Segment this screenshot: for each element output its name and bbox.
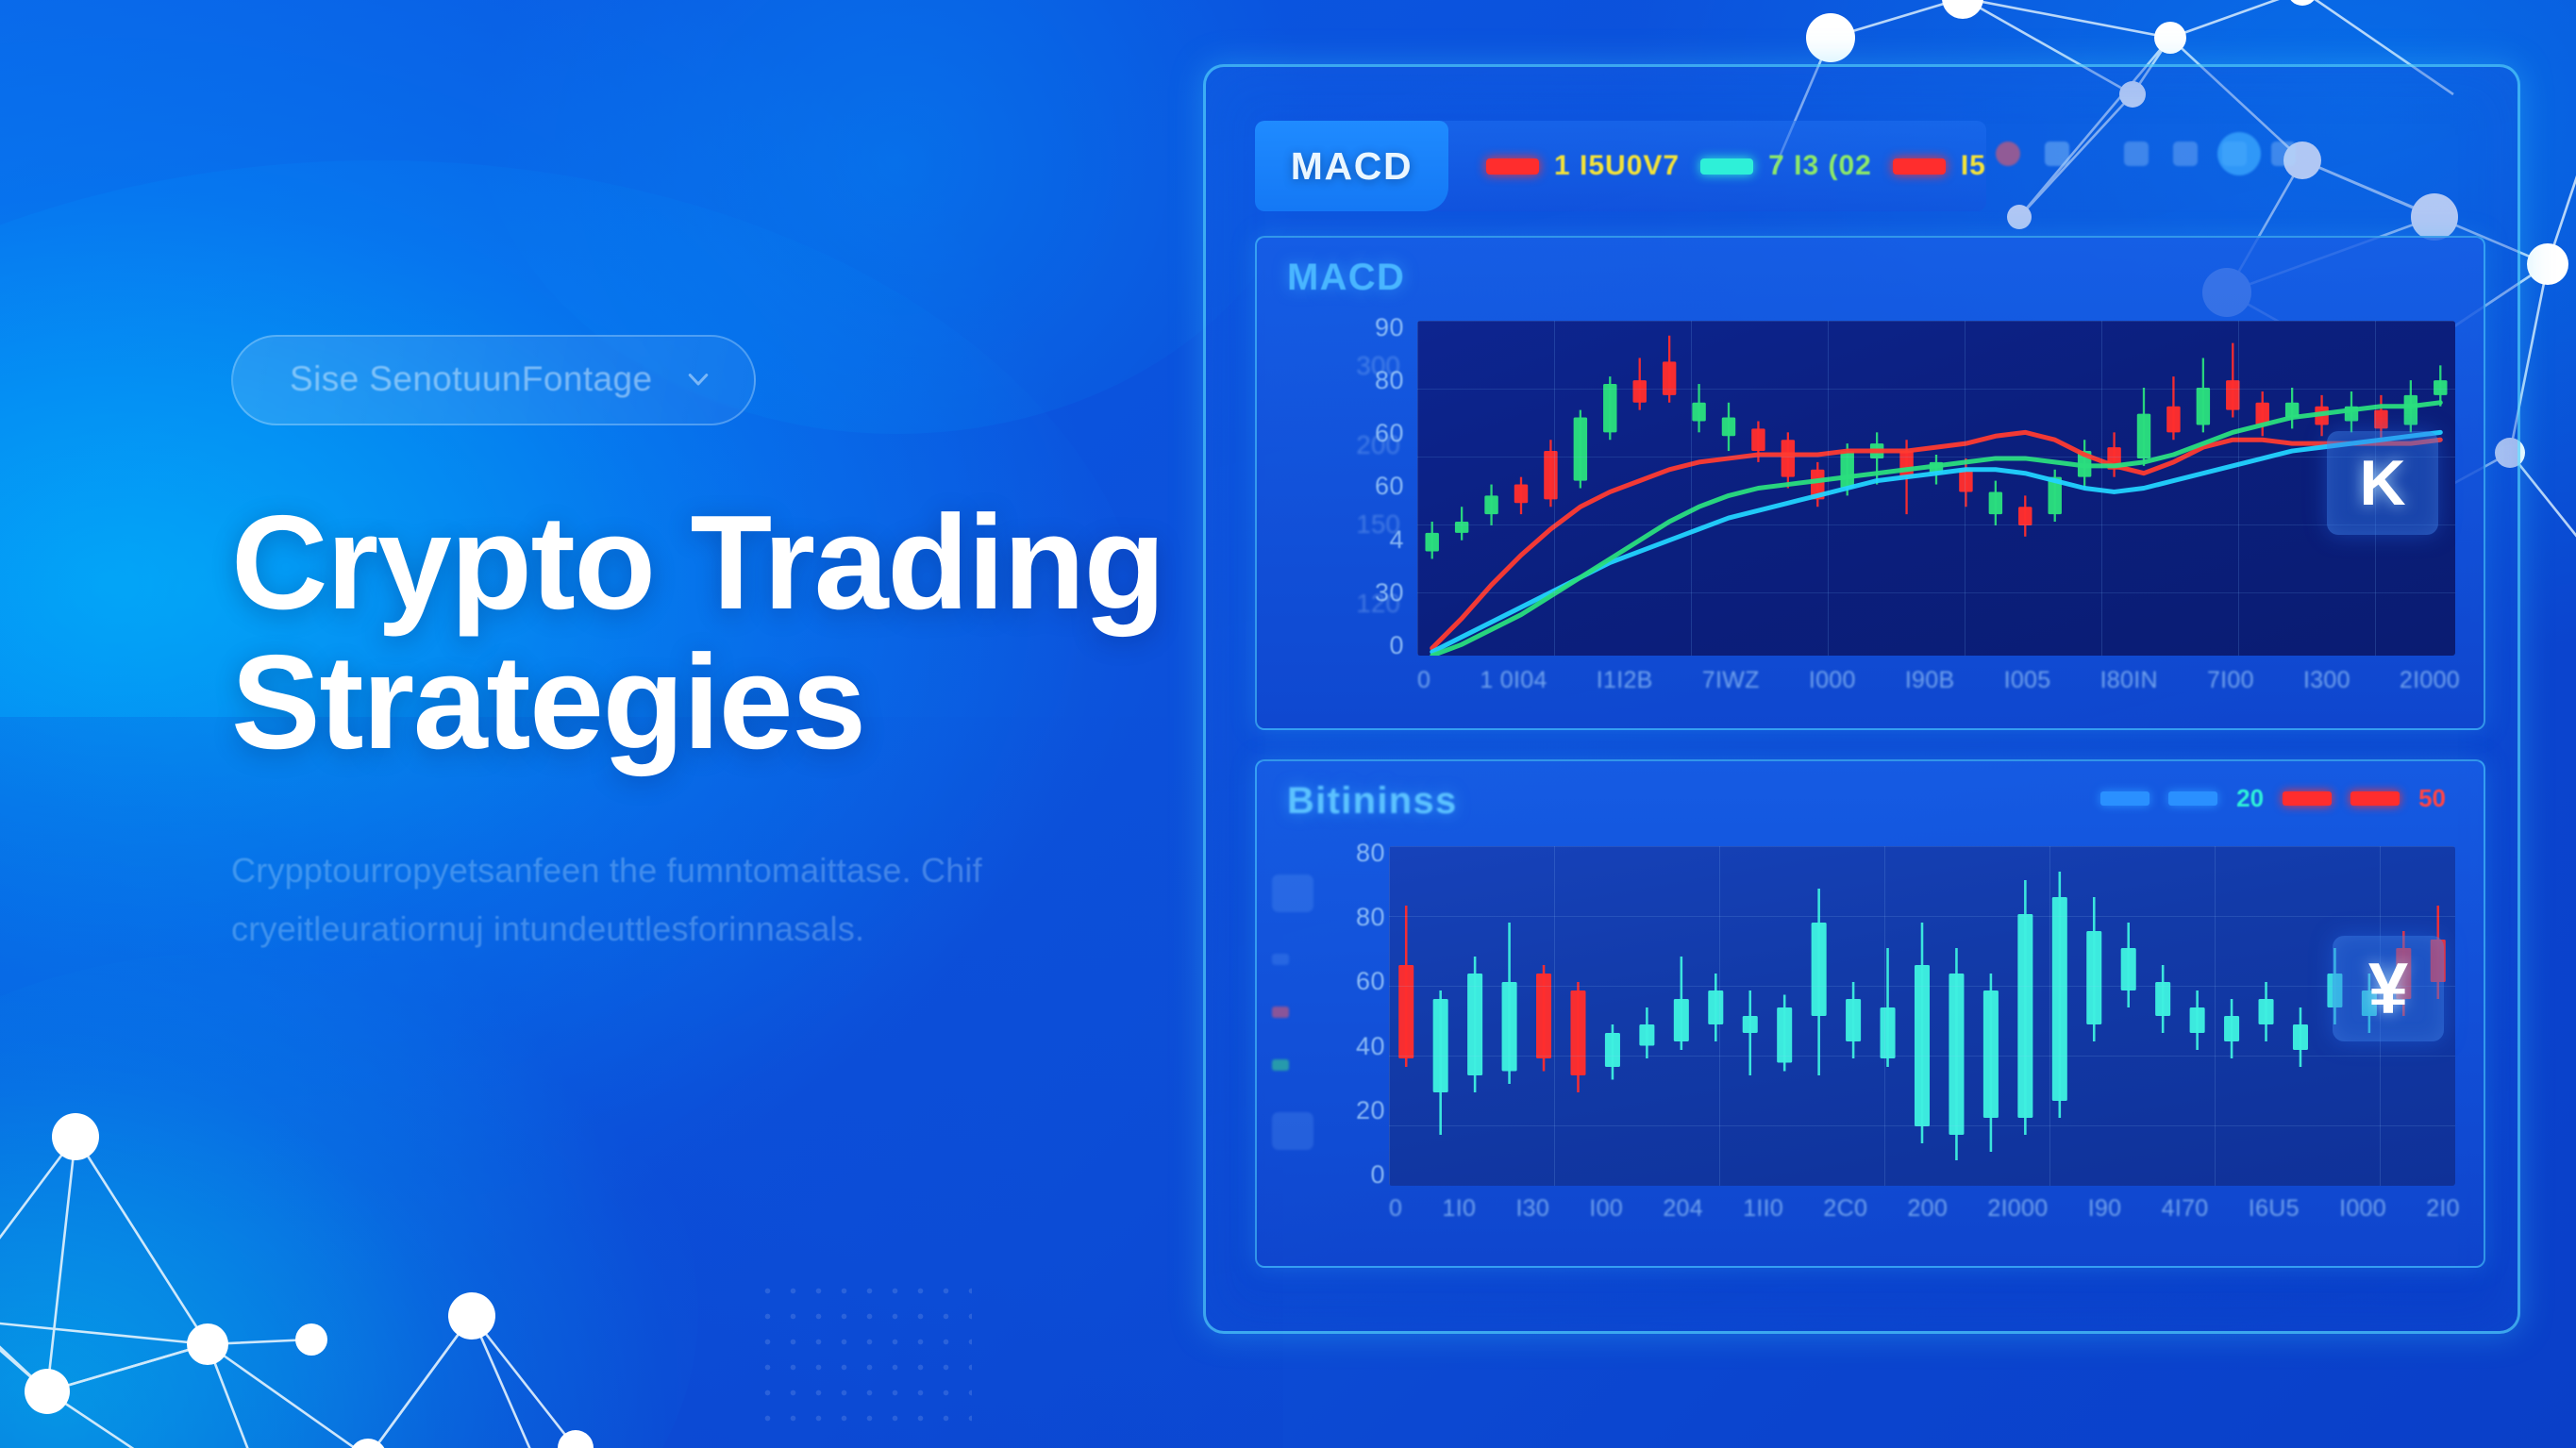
category-badge[interactable]: Sise SenotuunFontage: [231, 335, 756, 425]
grid-horizontal: [1417, 321, 2455, 656]
x-tick: 7I00: [2207, 667, 2254, 694]
legend-swatch-blue: [2100, 791, 2149, 806]
record-icon[interactable]: [1996, 141, 2020, 166]
network-nodes-bottom-left: [0, 1071, 689, 1448]
panel-title-macd: MACD: [1287, 257, 1405, 299]
x-tick: I00: [1589, 1195, 1623, 1223]
legend-swatch-red: [1893, 158, 1946, 175]
category-badge-label: Sise SenotuunFontage: [290, 359, 652, 399]
y-axis-macd: 90 80 60 60 4 30 0: [1313, 313, 1404, 660]
y-tick: 30: [1375, 578, 1404, 607]
y-tick: 20: [1356, 1096, 1385, 1125]
x-tick: 7IWZ: [1702, 667, 1760, 694]
legend-item: 1 I5U0V7: [1486, 150, 1680, 182]
page-subtitle-line-1: Crypptourropyetsanfeen the fumntomaittas…: [231, 841, 1024, 900]
x-tick: 200: [1907, 1195, 1948, 1223]
chevron-down-icon: [684, 365, 712, 393]
page-title-line-2: Strategies: [231, 633, 1231, 773]
x-tick: 1 0I04: [1480, 667, 1547, 694]
panel-title-binance: Bitininss: [1287, 780, 1458, 823]
x-tick: I000: [2339, 1195, 2386, 1223]
page-title: Crypto Trading Strategies: [231, 493, 1231, 772]
background-glow-bottom-left: [0, 953, 698, 1448]
x-tick: 2I000: [1987, 1195, 2048, 1223]
x-tick: I90: [2088, 1195, 2122, 1223]
y-tick: 4: [1389, 525, 1404, 555]
chart-toolbar: MACD 1 I5U0V7 7 I3 (02 I56I33 3: [1255, 121, 1986, 211]
page-subtitle-line-2: cryeitleuratiornuj intundeuttlesforinnas…: [231, 900, 1024, 958]
x-tick: 1II0: [1743, 1195, 1783, 1223]
x-tick: I6U5: [2249, 1195, 2300, 1223]
x-axis-macd: 0 1 0I04 I1I2B 7IWZ I000 I90B I005 I80IN…: [1417, 667, 2460, 694]
status-dot: [2217, 132, 2261, 175]
currency-badge-yen: ¥: [2333, 936, 2444, 1041]
panel-icon[interactable]: [1272, 954, 1289, 965]
x-tick: I005: [2004, 667, 2051, 694]
legend-swatch-red: [1486, 158, 1539, 175]
square-icon[interactable]: [2045, 141, 2069, 166]
y-tick: 80: [1356, 903, 1385, 932]
tab-macd[interactable]: MACD: [1255, 121, 1448, 211]
legend-value: 20: [2236, 784, 2264, 813]
panel-icon[interactable]: [1272, 1007, 1289, 1018]
plot-area-macd: [1417, 321, 2455, 656]
toolbar-legend: 1 I5U0V7 7 I3 (02 I56I33 3: [1448, 150, 1986, 182]
x-tick: I000: [1809, 667, 1856, 694]
legend-item: I56I33: [1893, 150, 1986, 182]
x-tick: I80IN: [2100, 667, 2158, 694]
back-icon[interactable]: [2124, 141, 2149, 166]
x-tick: 2I000: [2400, 667, 2460, 694]
grid-icon[interactable]: [2271, 141, 2296, 166]
y-tick: 0: [1370, 1160, 1385, 1190]
x-tick: 2I0: [2426, 1195, 2460, 1223]
legend-swatch-cyan: [1700, 158, 1753, 175]
legend-item: 7 I3 (02: [1700, 150, 1872, 182]
page-title-line-1: Crypto Trading: [231, 493, 1231, 633]
y-tick: 80: [1356, 839, 1385, 868]
y-tick: 60: [1375, 419, 1404, 448]
x-tick: I1I2B: [1597, 667, 1653, 694]
x-tick: I300: [2303, 667, 2350, 694]
y-tick: 0: [1389, 631, 1404, 660]
x-tick: I90B: [1905, 667, 1955, 694]
banner-canvas: Sise SenotuunFontage Crypto Trading Stra…: [0, 0, 2576, 1448]
x-tick: 0: [1389, 1195, 1402, 1223]
chart-panel-macd: MACD 300 200 150 120 90 80 60 60 4 30 0 …: [1255, 236, 2485, 730]
y-tick: 40: [1356, 1032, 1385, 1061]
x-tick: 1I0: [1443, 1195, 1477, 1223]
x-tick: 204: [1663, 1195, 1703, 1223]
y-tick: 60: [1356, 967, 1385, 996]
dot-grid-pattern: [755, 1278, 972, 1434]
x-axis-binance: 0 1I0 I30 I00 204 1II0 2C0 200 2I000 I90…: [1389, 1195, 2460, 1223]
share-icon[interactable]: [2173, 141, 2198, 166]
panel-icon[interactable]: [1272, 1059, 1289, 1071]
y-tick: 80: [1375, 366, 1404, 395]
grid-horizontal: [1389, 846, 2455, 1186]
x-tick: 0: [1417, 667, 1430, 694]
x-tick: I30: [1515, 1195, 1549, 1223]
currency-badge-k: K: [2327, 431, 2438, 535]
page-subtitle: Crypptourropyetsanfeen the fumntomaittas…: [231, 841, 1024, 958]
y-tick: 90: [1375, 313, 1404, 342]
y-axis-binance: 80 80 60 40 20 0: [1295, 839, 1385, 1190]
legend-value: I56I33: [1961, 150, 1986, 182]
legend-swatch-red: [2350, 791, 2400, 806]
panel-legend-binance: 20 50: [2100, 784, 2446, 813]
chart-panel-binance: Bitininss 20 50 80 80 60 40 20 0: [1255, 759, 2485, 1268]
x-tick: 4I70: [2162, 1195, 2209, 1223]
y-tick: 60: [1375, 472, 1404, 501]
legend-swatch-blue: [2168, 791, 2217, 806]
legend-value: 50: [2418, 784, 2446, 813]
plot-area-binance: [1389, 846, 2455, 1186]
legend-swatch-red: [2283, 791, 2332, 806]
legend-value: 1 I5U0V7: [1554, 150, 1680, 182]
legend-value: 7 I3 (02: [1768, 150, 1872, 182]
hero-block: Sise SenotuunFontage Crypto Trading Stra…: [231, 335, 1231, 958]
x-tick: 2C0: [1823, 1195, 1867, 1223]
